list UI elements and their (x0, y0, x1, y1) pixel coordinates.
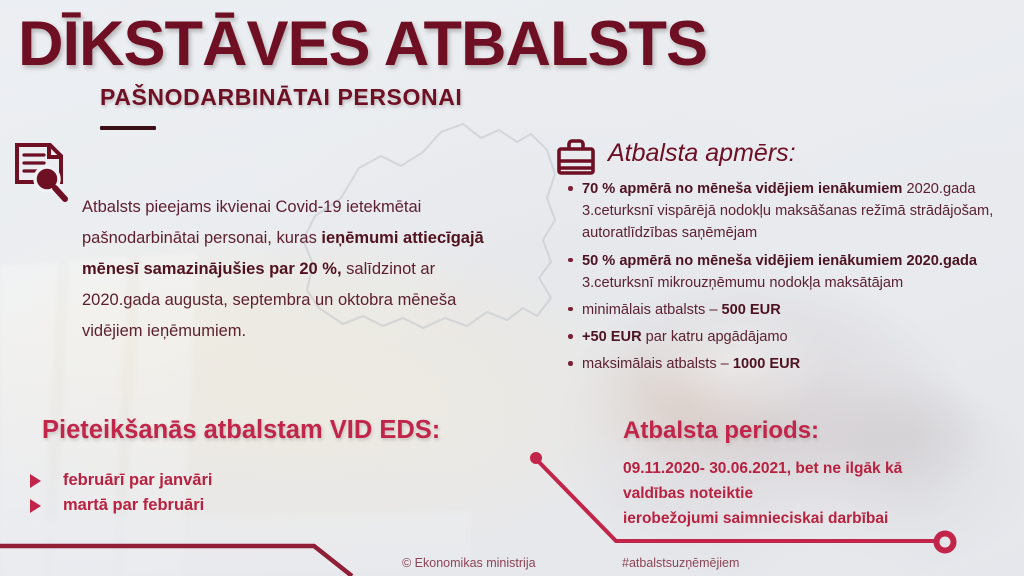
period-line-2: valdības noteiktie (623, 481, 1008, 506)
list-item: februārī par janvāri (30, 468, 360, 493)
amount-item-pre: minimālais atbalsts – (582, 302, 722, 318)
amount-item-rest: par katru apgādājamo (642, 329, 788, 345)
list-item: +50 EUR par katru apgādājamo (572, 326, 1022, 348)
amount-list: 70 % apmērā no mēneša vidējiem ienākumie… (554, 178, 1022, 380)
list-item: 50 % apmērā no mēneša vidējiem ienākumie… (572, 250, 1022, 294)
title-divider (100, 126, 156, 130)
infographic-poster: DĪKSTĀVES ATBALSTS PAŠNODARBINĀTAI PERSO… (0, 0, 1024, 576)
apply-item-label: martā par februāri (63, 496, 204, 515)
amount-item-pre: maksimālais atbalsts – (582, 356, 733, 372)
amount-item-bold: 500 EUR (722, 302, 781, 318)
amount-item-bold: +50 EUR (582, 329, 642, 345)
triangle-bullet-icon (30, 474, 41, 488)
list-item: minimālais atbalsts – 500 EUR (572, 299, 1022, 321)
period-heading: Atbalsta periods: (623, 417, 819, 445)
intro-paragraph: Atbalsts pieejams ikvienai Covid-19 iete… (82, 192, 502, 347)
period-body: 09.11.2020- 30.06.2021, bet ne ilgāk kā … (623, 456, 1008, 531)
amount-item-bold: 50 % apmērā no mēneša vidējiem ienākumie… (582, 253, 977, 269)
apply-item-label: februārī par janvāri (63, 471, 212, 490)
amount-item-bold: 1000 EUR (733, 356, 800, 372)
list-item: martā par februāri (30, 493, 360, 518)
page-subtitle: PAŠNODARBINĀTAI PERSONAI (100, 84, 462, 111)
document-search-icon (14, 142, 68, 202)
footer-hashtag: #atbalstsuzņēmējiem (622, 556, 739, 570)
triangle-bullet-icon (30, 499, 41, 513)
briefcase-icon (556, 138, 596, 176)
period-line-3: ierobežojumi saimnieciskai darbībai (623, 506, 1008, 531)
amount-item-rest: 3.ceturksnī mikrouzņēmumu nodokļa maksāt… (582, 275, 903, 291)
footer-copyright: © Ekonomikas ministrija (402, 556, 536, 570)
amount-heading: Atbalsta apmērs: (608, 139, 796, 168)
amount-item-bold: 70 % apmērā no mēneša vidējiem ienākumie… (582, 181, 902, 197)
period-line-1: 09.11.2020- 30.06.2021, bet ne ilgāk kā (623, 456, 1008, 481)
list-item: maksimālais atbalsts – 1000 EUR (572, 353, 1022, 375)
apply-heading: Pieteikšanās atbalstam VID EDS: (42, 416, 440, 445)
list-item: 70 % apmērā no mēneša vidējiem ienākumie… (572, 178, 1022, 245)
page-title: DĪKSTĀVES ATBALSTS (18, 8, 707, 80)
apply-list: februārī par janvāri martā par februāri (30, 468, 360, 518)
